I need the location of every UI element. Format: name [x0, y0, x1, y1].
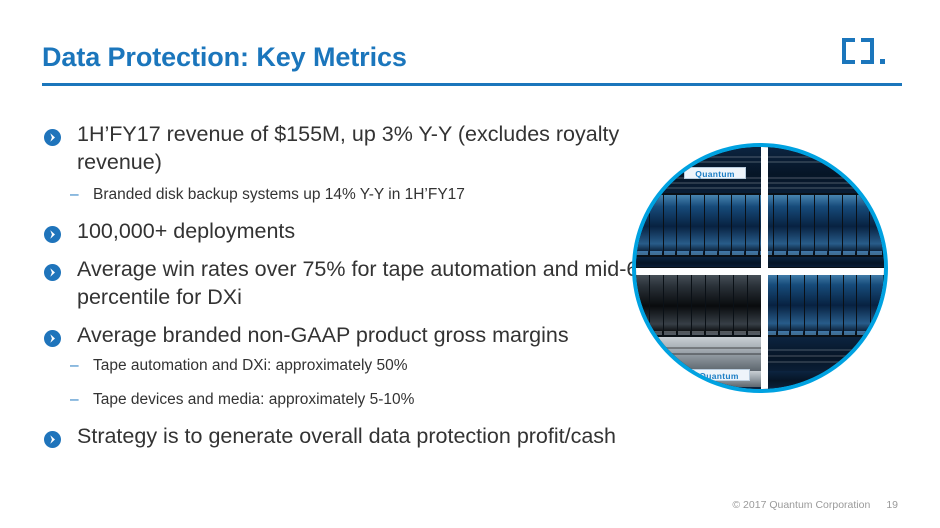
quantum-bracket-logo-icon — [840, 36, 898, 70]
list-item: Average branded non-GAAP product gross m… — [44, 321, 704, 349]
photo-content: Quantum — [636, 147, 884, 389]
chevron-circle-bullet-icon — [44, 260, 61, 277]
list-item-label-pre: Average win rates over 75% for tape auto… — [77, 257, 650, 281]
list-item-label: 100,000+ deployments — [77, 219, 295, 243]
drive-bay-band — [636, 195, 884, 253]
en-dash-bullet-icon: – — [70, 183, 79, 207]
drive-led-row — [636, 331, 762, 335]
list-item-label: Branded disk backup systems up 14% Y-Y i… — [93, 186, 465, 203]
list-item-label: Tape automation and DXi: approximately 5… — [93, 357, 408, 374]
chevron-circle-bullet-icon — [44, 326, 61, 343]
drive-bay-band — [636, 273, 762, 333]
quantum-storage-array-photo: Quantum — [632, 143, 888, 393]
list-item-label: Average branded non-GAAP product gross m… — [77, 323, 569, 347]
list-item: Strategy is to generate overall data pro… — [44, 422, 704, 450]
drive-led-row — [765, 331, 884, 335]
list-item: 1H’FY17 revenue of $155M, up 3% Y-Y (exc… — [44, 120, 704, 176]
photo-split-vertical — [761, 147, 768, 389]
list-item: 100,000+ deployments — [44, 217, 704, 245]
list-item: – Branded disk backup systems up 14% Y-Y… — [44, 183, 704, 207]
photo-split-horizontal — [636, 268, 884, 275]
list-item: – Tape automation and DXi: approximately… — [44, 354, 704, 378]
chevron-circle-bullet-icon — [44, 222, 61, 239]
page-title: Data Protection: Key Metrics — [42, 40, 902, 74]
copyright-text: © 2017 Quantum Corporation — [732, 499, 870, 511]
brand-label: Quantum — [684, 167, 746, 179]
list-item-label: Strategy is to generate overall data pro… — [77, 424, 616, 448]
chassis-bottom-right — [765, 337, 884, 371]
slide-canvas: Data Protection: Key Metrics — [0, 0, 940, 528]
chassis-mid — [636, 257, 884, 267]
title-underline-divider — [42, 83, 902, 86]
chassis-foot-right — [765, 371, 884, 387]
list-item-label: 1H’FY17 revenue of $155M, up 3% Y-Y (exc… — [77, 122, 619, 174]
en-dash-bullet-icon: – — [70, 388, 79, 412]
bullet-list: 1H’FY17 revenue of $155M, up 3% Y-Y (exc… — [44, 120, 704, 457]
en-dash-bullet-icon: – — [70, 354, 79, 378]
brand-label: Quantum — [688, 369, 750, 381]
list-item: – Tape devices and media: approximately … — [44, 388, 704, 412]
footer: © 2017 Quantum Corporation 19 — [732, 499, 898, 511]
chassis-bottom-left — [636, 337, 762, 371]
list-item-label: Tape devices and media: approximately 5-… — [93, 391, 414, 408]
list-item-label-post: percentile for DXi — [77, 285, 242, 309]
title-block: Data Protection: Key Metrics — [42, 40, 902, 74]
list-item: Average win rates over 75% for tape auto… — [44, 255, 704, 311]
chassis-top — [636, 147, 884, 193]
chevron-circle-bullet-icon — [44, 125, 61, 142]
drive-led-row — [636, 251, 884, 255]
chevron-circle-bullet-icon — [44, 427, 61, 444]
drive-bay-band — [765, 273, 884, 333]
page-number: 19 — [886, 499, 898, 511]
